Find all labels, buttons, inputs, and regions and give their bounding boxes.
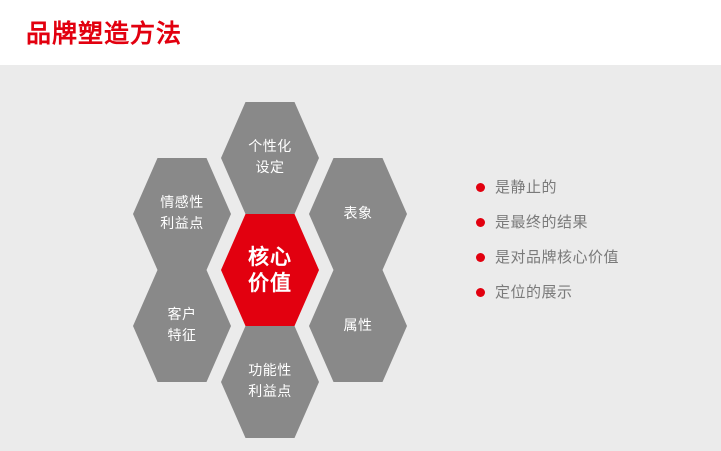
header-bar: 品牌塑造方法 xyxy=(0,0,721,65)
hex-cell-label: 情感性 利益点 xyxy=(160,193,204,235)
hex-cell-emotional-benefit[interactable]: 情感性 利益点 xyxy=(133,158,231,270)
list-item-label: 是对品牌核心价值 xyxy=(495,247,619,268)
list-item: 是对品牌核心价值 xyxy=(476,247,696,282)
hex-cell-customer-traits[interactable]: 客户 特征 xyxy=(133,270,231,382)
page-title: 品牌塑造方法 xyxy=(26,19,182,49)
hex-core-label: 核心 价值 xyxy=(248,244,292,296)
list-item: 是静止的 xyxy=(476,177,696,212)
bullet-dot-icon xyxy=(476,288,485,297)
slide-body: 个性化 设定 情感性 利益点 表象 核心 价值 客户 特征 属性 功能性 利益点… xyxy=(0,65,721,451)
hex-cell-attributes[interactable]: 属性 xyxy=(309,270,407,382)
bullet-dot-icon xyxy=(476,218,485,227)
list-item: 是最终的结果 xyxy=(476,212,696,247)
hex-cell-appearance[interactable]: 表象 xyxy=(309,158,407,270)
hex-cell-personalization[interactable]: 个性化 设定 xyxy=(221,102,319,214)
hex-cell-label: 属性 xyxy=(344,316,373,337)
hex-cell-functional-benefit[interactable]: 功能性 利益点 xyxy=(221,326,319,438)
hex-cell-label: 表象 xyxy=(344,204,373,225)
list-item-label: 是最终的结果 xyxy=(495,212,588,233)
honeycomb-diagram: 个性化 设定 情感性 利益点 表象 核心 价值 客户 特征 属性 功能性 利益点 xyxy=(133,102,408,384)
bullet-dot-icon xyxy=(476,183,485,192)
hex-cell-core-value[interactable]: 核心 价值 xyxy=(221,214,319,326)
list-item: 定位的展示 xyxy=(476,282,696,317)
hex-cell-label: 个性化 设定 xyxy=(248,137,292,179)
list-item-label: 定位的展示 xyxy=(495,282,573,303)
list-item-label: 是静止的 xyxy=(495,177,557,198)
hex-cell-label: 功能性 利益点 xyxy=(248,361,292,403)
bullet-dot-icon xyxy=(476,253,485,262)
hex-cell-label: 客户 特征 xyxy=(168,305,197,347)
bullet-list: 是静止的 是最终的结果 是对品牌核心价值 定位的展示 xyxy=(476,177,696,317)
